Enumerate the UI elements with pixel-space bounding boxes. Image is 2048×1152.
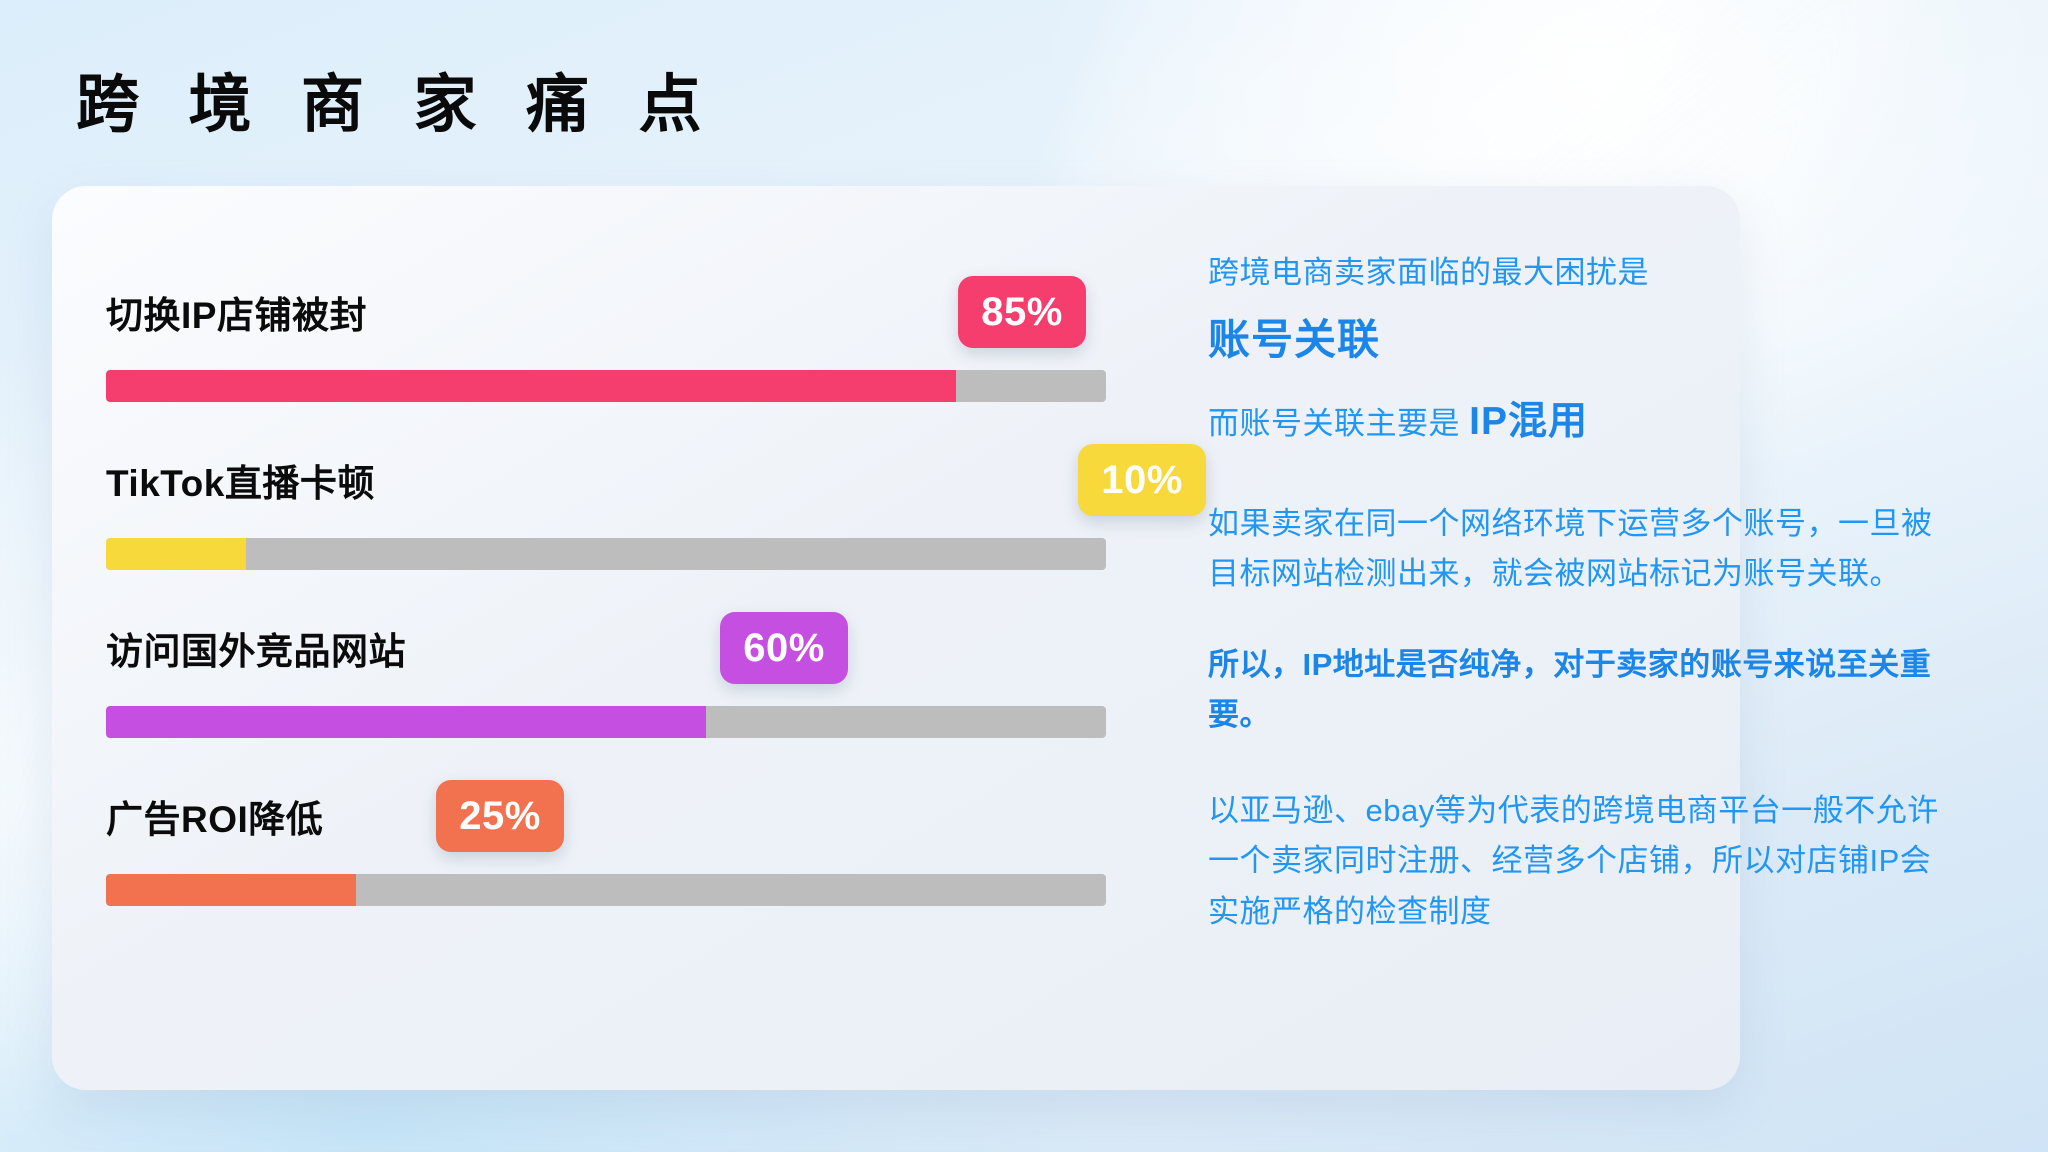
- bar-fill: [106, 538, 246, 570]
- bar-value-badge: 25%: [436, 780, 564, 852]
- bar-header: TikTok直播卡顿 10%: [106, 434, 1116, 526]
- page-title: 跨 境 商 家 痛 点: [76, 74, 718, 137]
- bar-header: 广告ROI降低 25%: [106, 770, 1116, 862]
- highlight-term: 账号关联: [1208, 310, 1948, 371]
- bar-value-badge: 10%: [1078, 444, 1206, 516]
- bar-item: 广告ROI降低 25%: [106, 770, 1116, 938]
- bar-value-badge: 85%: [958, 276, 1086, 348]
- bar-item: 切换IP店铺被封 85%: [106, 266, 1116, 434]
- bar-track: [106, 706, 1106, 738]
- pain-point-bar-chart: 切换IP店铺被封 85% TikTok直播卡顿 10% 访问国外竞品网站 60%…: [106, 266, 1116, 1026]
- bar-item: 访问国外竞品网站 60%: [106, 602, 1116, 770]
- explanation-panel: 跨境电商卖家面临的最大困扰是 账号关联 而账号关联主要是 IP混用 如果卖家在同…: [1208, 250, 1948, 937]
- bar-track: [106, 874, 1106, 906]
- mid-statement-strong: IP混用: [1469, 400, 1588, 443]
- mid-statement-prefix: 而账号关联主要是: [1208, 406, 1460, 441]
- paragraph-three: 以亚马逊、ebay等为代表的跨境电商平台一般不允许一个卖家同时注册、经营多个店铺…: [1208, 786, 1948, 937]
- bar-header: 访问国外竞品网站 60%: [106, 602, 1116, 694]
- mid-statement: 而账号关联主要是 IP混用: [1208, 393, 1948, 452]
- bar-header: 切换IP店铺被封 85%: [106, 266, 1116, 358]
- bar-label: TikTok直播卡顿: [106, 453, 375, 507]
- bar-track: [106, 538, 1106, 570]
- bar-label: 切换IP店铺被封: [106, 285, 367, 339]
- bar-label: 访问国外竞品网站: [106, 621, 406, 675]
- bar-label: 广告ROI降低: [106, 789, 323, 843]
- bar-fill: [106, 706, 706, 738]
- bar-item: TikTok直播卡顿 10%: [106, 434, 1116, 602]
- bar-fill: [106, 874, 356, 906]
- bar-fill: [106, 370, 956, 402]
- lead-text: 跨境电商卖家面临的最大困扰是: [1208, 250, 1948, 296]
- bar-track: [106, 370, 1106, 402]
- paragraph-two: 所以，IP地址是否纯净，对于卖家的账号来说至关重要。: [1208, 640, 1948, 740]
- paragraph-one: 如果卖家在同一个网络环境下运营多个账号，一旦被目标网站检测出来，就会被网站标记为…: [1208, 499, 1948, 599]
- bar-value-badge: 60%: [720, 612, 848, 684]
